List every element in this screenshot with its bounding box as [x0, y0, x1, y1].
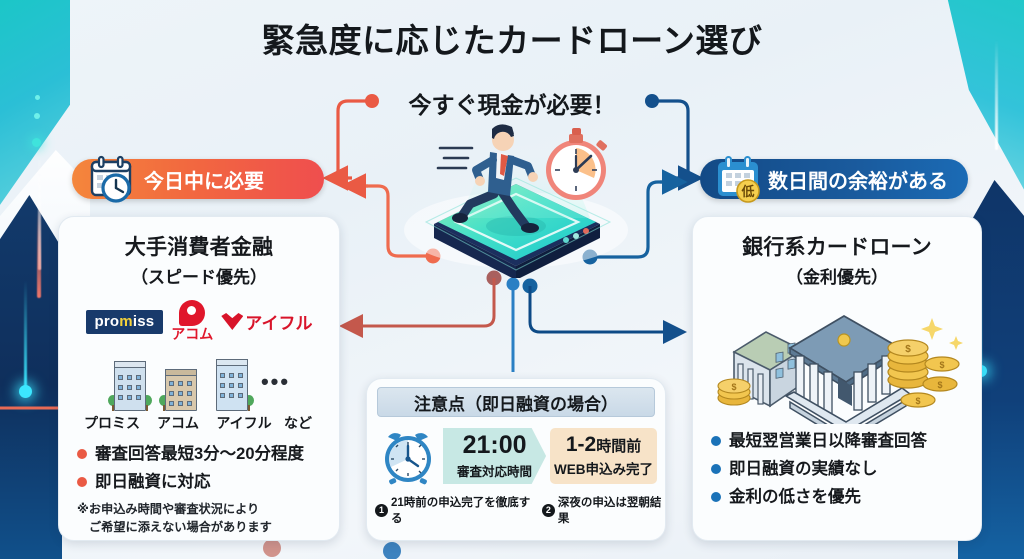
- svg-text:$: $: [937, 380, 942, 390]
- urgency-pill-days-label: 数日間の余裕がある: [768, 165, 948, 194]
- calendar-clock-icon: [82, 155, 140, 203]
- card-consumer-finance-subtitle: （スピード優先）: [59, 263, 339, 288]
- svg-text:$: $: [731, 382, 736, 392]
- aiful-mark-icon: [221, 313, 243, 330]
- tag-cutoff-time: 21:00 審査対応時間: [443, 428, 546, 484]
- lender-logo-row: promiss アコム アイフル: [59, 300, 339, 343]
- footnote-number-icon: 2: [542, 504, 555, 517]
- footnote-item: 1 21時前の申込完了を徹底する: [375, 494, 532, 526]
- card-notice-heading: 注意点（即日融資の場合）: [377, 387, 655, 417]
- svg-text:$: $: [915, 396, 920, 406]
- note-line-2: ご希望に添えない場合があります: [77, 519, 331, 537]
- bullet-text: 即日融資の実績なし: [729, 460, 878, 479]
- note-line-1: ※お申込み時間や審査状況により: [77, 502, 259, 516]
- card-notice: 注意点（即日融資の場合）: [366, 378, 666, 541]
- tag-lead-time-value: 1-2時間前: [566, 434, 641, 455]
- consumer-finance-note: ※お申込み時間や審査状況により ご希望に添えない場合があります: [59, 501, 339, 536]
- building-label-more: など: [280, 413, 316, 433]
- sparkle-icon: [949, 336, 963, 350]
- building-icon-row: •••: [59, 353, 339, 411]
- bullet-dot-icon: [711, 492, 721, 502]
- card-consumer-finance-title: 大手消費者金融: [59, 231, 339, 261]
- card-notice-footnotes: 1 21時前の申込完了を徹底する 2 深夜の申込は翌朝結果: [375, 494, 665, 526]
- svg-text:$: $: [905, 344, 911, 355]
- tag-lead-time: 1-2時間前 WEB申込み完了: [550, 428, 657, 484]
- bullet-dot-icon: [711, 436, 721, 446]
- building-label-aiful: アイフル: [214, 413, 274, 433]
- footnote-text: 深夜の申込は翌朝結果: [558, 494, 665, 526]
- building-icon-aiful: [210, 355, 254, 411]
- card-bank-loan: 銀行系カードローン （金利優先）: [692, 216, 982, 541]
- urgency-pill-today-label: 今日中に必要: [144, 165, 264, 194]
- bullet-text: 即日融資に対応: [95, 473, 211, 492]
- bullet-dot-icon: [77, 449, 87, 459]
- building-label-row: プロミス アコム アイフル など: [59, 413, 339, 433]
- tag-lead-time-caption: WEB申込み完了: [554, 458, 653, 478]
- urgency-pill-days[interactable]: 低 数日間の余裕がある: [700, 159, 968, 199]
- bullet-item: 即日融資に対応: [77, 473, 339, 492]
- svg-text:$: $: [939, 360, 944, 370]
- deco-dot-2: [383, 542, 401, 559]
- tag-cutoff-time-caption: 審査対応時間: [457, 461, 532, 480]
- footnote-item: 2 深夜の申込は翌朝結果: [542, 494, 665, 526]
- building-icon-promise: [108, 355, 152, 411]
- building-icon-acom: [159, 355, 203, 411]
- running-businessman-stopwatch-illustration: [398, 118, 628, 278]
- tag-cutoff-time-value: 21:00: [463, 433, 527, 458]
- logo-acom-label: アコム: [171, 326, 213, 342]
- consumer-finance-bullets: 審査回答最短3分〜20分程度 即日融資に対応: [59, 445, 339, 492]
- bullet-item: 即日融資の実績なし: [711, 460, 981, 479]
- bullet-text: 最短翌営業日以降審査回答: [729, 432, 927, 451]
- logo-promiss: promiss: [86, 310, 164, 334]
- calendar-low-badge-text: 低: [740, 184, 754, 199]
- urgency-pill-today[interactable]: 今日中に必要: [72, 159, 324, 199]
- card-consumer-finance: 大手消費者金融 （スピード優先） promiss アコム アイフル: [58, 216, 340, 541]
- bank-buildings-coins-illustration: $ $ $ $ $: [704, 292, 970, 424]
- building-label-promise: プロミス: [82, 413, 142, 433]
- bullet-dot-icon: [711, 464, 721, 474]
- tag-lead-time-unit: 時間前: [596, 438, 641, 455]
- infographic-canvas: 緊急度に応じたカードローン選び 今すぐ現金が必要！: [0, 0, 1024, 559]
- building-label-acom: アコム: [148, 413, 208, 433]
- logo-aiful-label: アイフル: [245, 309, 312, 334]
- deco-dot-1: [263, 539, 281, 557]
- bullet-text: 金利の低さを優先: [729, 488, 861, 507]
- bank-loan-bullets: 最短翌営業日以降審査回答 即日融資の実績なし 金利の低さを優先: [693, 432, 981, 507]
- logo-aiful: アイフル: [221, 309, 312, 334]
- card-bank-loan-subtitle: （金利優先）: [693, 263, 981, 288]
- acom-mark-icon: [179, 300, 205, 326]
- footnote-number-icon: 1: [375, 504, 388, 517]
- logo-acom: アコム: [171, 300, 213, 343]
- sparkle-icon: [921, 318, 943, 340]
- footnote-text: 21時前の申込完了を徹底する: [391, 494, 532, 526]
- tag-lead-time-num: 1-2: [566, 433, 596, 456]
- bank-illustration-wrap: $ $ $ $ $: [693, 292, 981, 424]
- bullet-text: 審査回答最短3分〜20分程度: [95, 445, 304, 464]
- bullet-dot-icon: [77, 477, 87, 487]
- bullet-item: 最短翌営業日以降審査回答: [711, 432, 981, 451]
- calendar-low-icon: 低: [710, 155, 768, 203]
- card-bank-loan-title: 銀行系カードローン: [693, 231, 981, 261]
- card-notice-body: 21:00 審査対応時間 1-2時間前 WEB申込み完了: [377, 425, 657, 487]
- ellipsis-more: •••: [261, 369, 290, 411]
- alarm-clock-icon: [377, 425, 439, 487]
- bullet-item: 審査回答最短3分〜20分程度: [77, 445, 339, 464]
- bullet-item: 金利の低さを優先: [711, 488, 981, 507]
